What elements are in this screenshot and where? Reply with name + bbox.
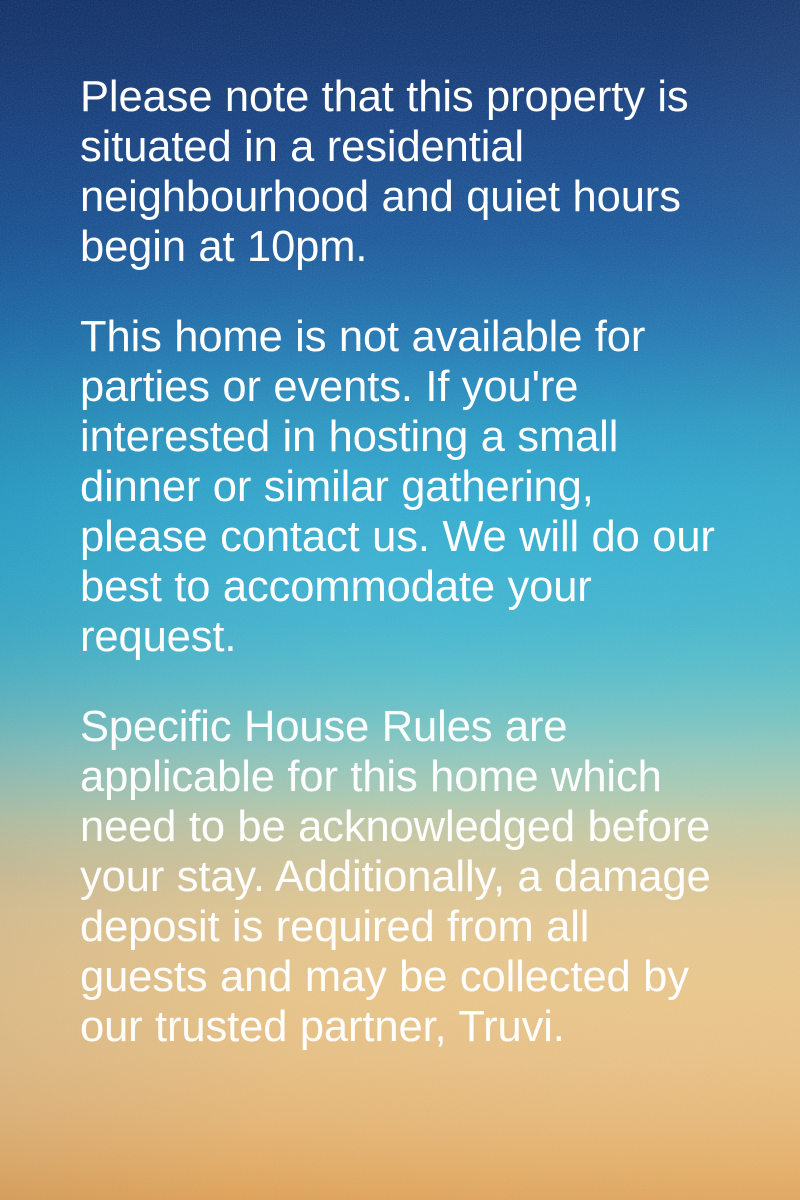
notice-paragraph-house-rules-deposit: Specific House Rules are applicable for … xyxy=(80,702,728,1052)
notice-text-block: Please note that this property is situat… xyxy=(80,72,728,1052)
notice-paragraph-quiet-hours: Please note that this property is situat… xyxy=(80,72,728,272)
house-rules-notice-card: Please note that this property is situat… xyxy=(0,0,800,1200)
notice-paragraph-no-parties: This home is not available for parties o… xyxy=(80,312,728,662)
